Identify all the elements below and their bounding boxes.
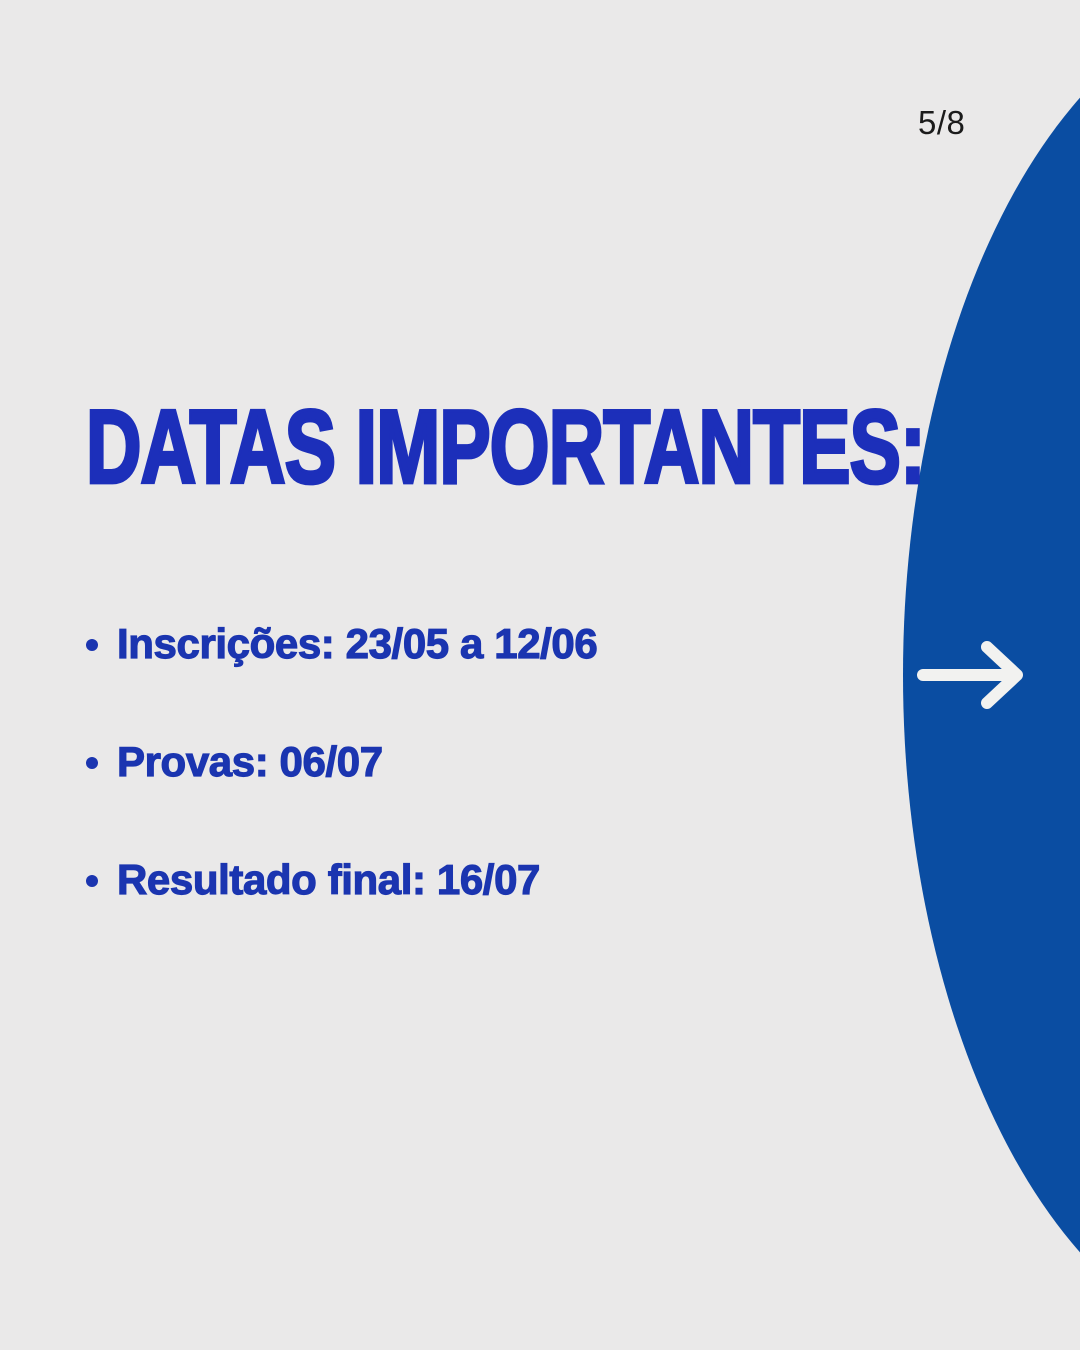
bullet-dot-icon bbox=[86, 757, 98, 769]
list-item-label: Provas: 06/07 bbox=[117, 741, 383, 783]
page-counter: 5/8 bbox=[918, 106, 965, 139]
list-item: Inscrições: 23/05 a 12/06 bbox=[86, 612, 886, 676]
arrow-right-icon[interactable] bbox=[915, 638, 1030, 712]
list-item: Provas: 06/07 bbox=[86, 730, 886, 794]
list-item: Resultado final: 16/07 bbox=[86, 848, 886, 912]
important-dates-list: Inscrições: 23/05 a 12/06 Provas: 06/07 … bbox=[86, 612, 886, 912]
slide-canvas: 5/8 DATAS IMPORTANTES: Inscrições: 23/05… bbox=[0, 0, 1080, 1350]
bullet-dot-icon bbox=[86, 875, 98, 887]
list-item-label: Resultado final: 16/07 bbox=[117, 859, 540, 901]
list-item-label: Inscrições: 23/05 a 12/06 bbox=[117, 623, 597, 665]
bullet-dot-icon bbox=[86, 639, 98, 651]
page-title: DATAS IMPORTANTES: bbox=[86, 396, 925, 500]
